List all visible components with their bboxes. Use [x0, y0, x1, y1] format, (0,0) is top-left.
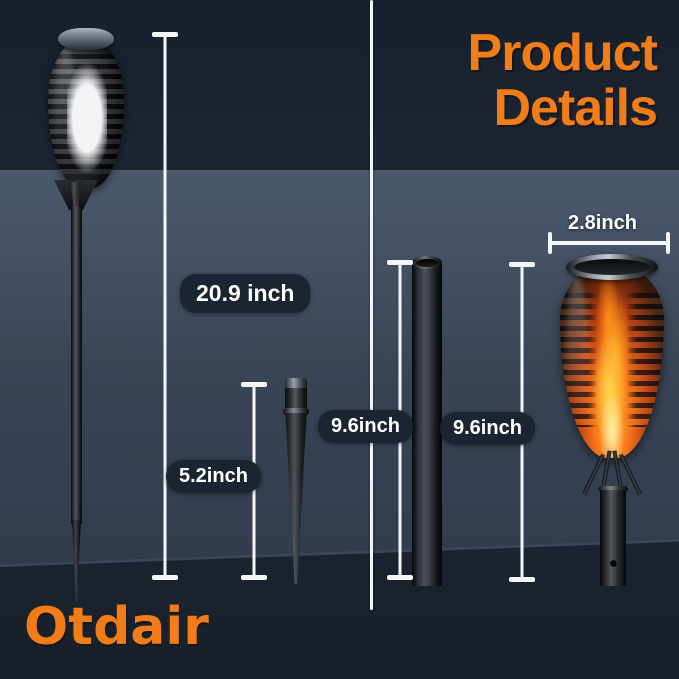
measure-shaft	[548, 241, 670, 245]
torch-head-scroll-pattern	[67, 60, 107, 176]
section-divider	[370, 0, 373, 610]
tube-opening	[416, 259, 438, 267]
measure-line-head-width	[548, 232, 670, 254]
measure-cap-bottom	[387, 575, 413, 580]
measure-label-stake-length: 5.2inch	[166, 460, 261, 493]
product-flame-torch-head	[546, 254, 678, 584]
measure-label-head-width: 2.8inch	[568, 212, 637, 235]
product-extension-tube	[412, 256, 442, 586]
page-title-line-2: Details	[468, 81, 657, 136]
brand-logo: Otdair	[24, 597, 209, 657]
flame-torch-screw	[610, 560, 617, 567]
product-assembled-solar-torch	[38, 22, 134, 582]
product-details-image: Product Details Otdair	[0, 0, 679, 679]
flame-torch-pole	[600, 490, 626, 586]
stake-cap	[285, 378, 307, 388]
torch-head-body	[48, 38, 124, 188]
flame-torch-rim-inner	[574, 259, 650, 275]
measure-label-full-length: 20.9 inch	[180, 274, 310, 313]
measure-cap-bottom	[241, 575, 267, 580]
measure-cap-bottom	[509, 577, 535, 582]
tube-body	[412, 262, 442, 586]
measure-label-tube-length: 9.6inch	[318, 410, 413, 443]
stake-body	[284, 413, 308, 584]
measure-cap-bottom	[152, 575, 178, 580]
solar-panel-top	[58, 28, 114, 50]
flame-torch-gloss	[566, 276, 588, 426]
torch-pole	[71, 206, 82, 524]
page-title: Product Details	[468, 26, 657, 136]
measure-line-full-length	[150, 32, 180, 580]
product-ground-stake	[280, 378, 312, 584]
page-title-line-1: Product	[468, 26, 657, 81]
torch-head-decorative	[46, 22, 126, 194]
flame-torch-housing	[560, 266, 664, 458]
measure-label-torch-length: 9.6inch	[440, 412, 535, 445]
measure-cap-right	[666, 232, 670, 254]
measure-shaft	[164, 32, 167, 580]
